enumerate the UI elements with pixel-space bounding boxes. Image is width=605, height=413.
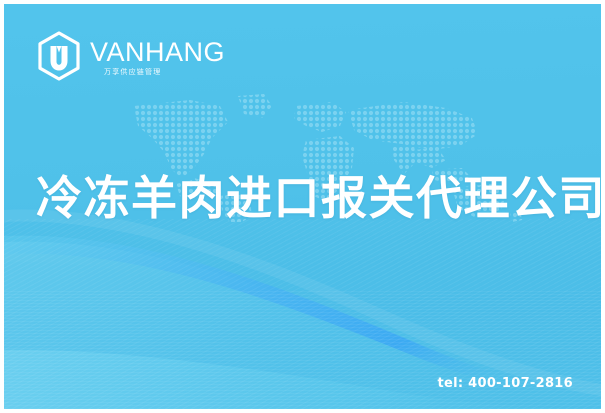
brand-wordmark: VANHANG 万享供应链管理 bbox=[90, 33, 225, 79]
brand-wordmark-main: VANHANG bbox=[90, 39, 225, 66]
contact-phone: tel: 400-107-2816 bbox=[437, 376, 573, 391]
promo-banner: VANHANG 万享供应链管理 冷冻羊肉进口报关代理公司 tel: 400-10… bbox=[0, 0, 605, 413]
brand-logo[interactable]: VANHANG 万享供应链管理 bbox=[36, 31, 225, 81]
brand-wordmark-sub: 万享供应链管理 bbox=[104, 69, 225, 76]
hexagon-u-monogram-icon bbox=[36, 31, 82, 81]
page-title: 冷冻羊肉进口报关代理公司 bbox=[36, 174, 581, 224]
banner-inner-frame: VANHANG 万享供应链管理 冷冻羊肉进口报关代理公司 tel: 400-10… bbox=[4, 4, 601, 409]
